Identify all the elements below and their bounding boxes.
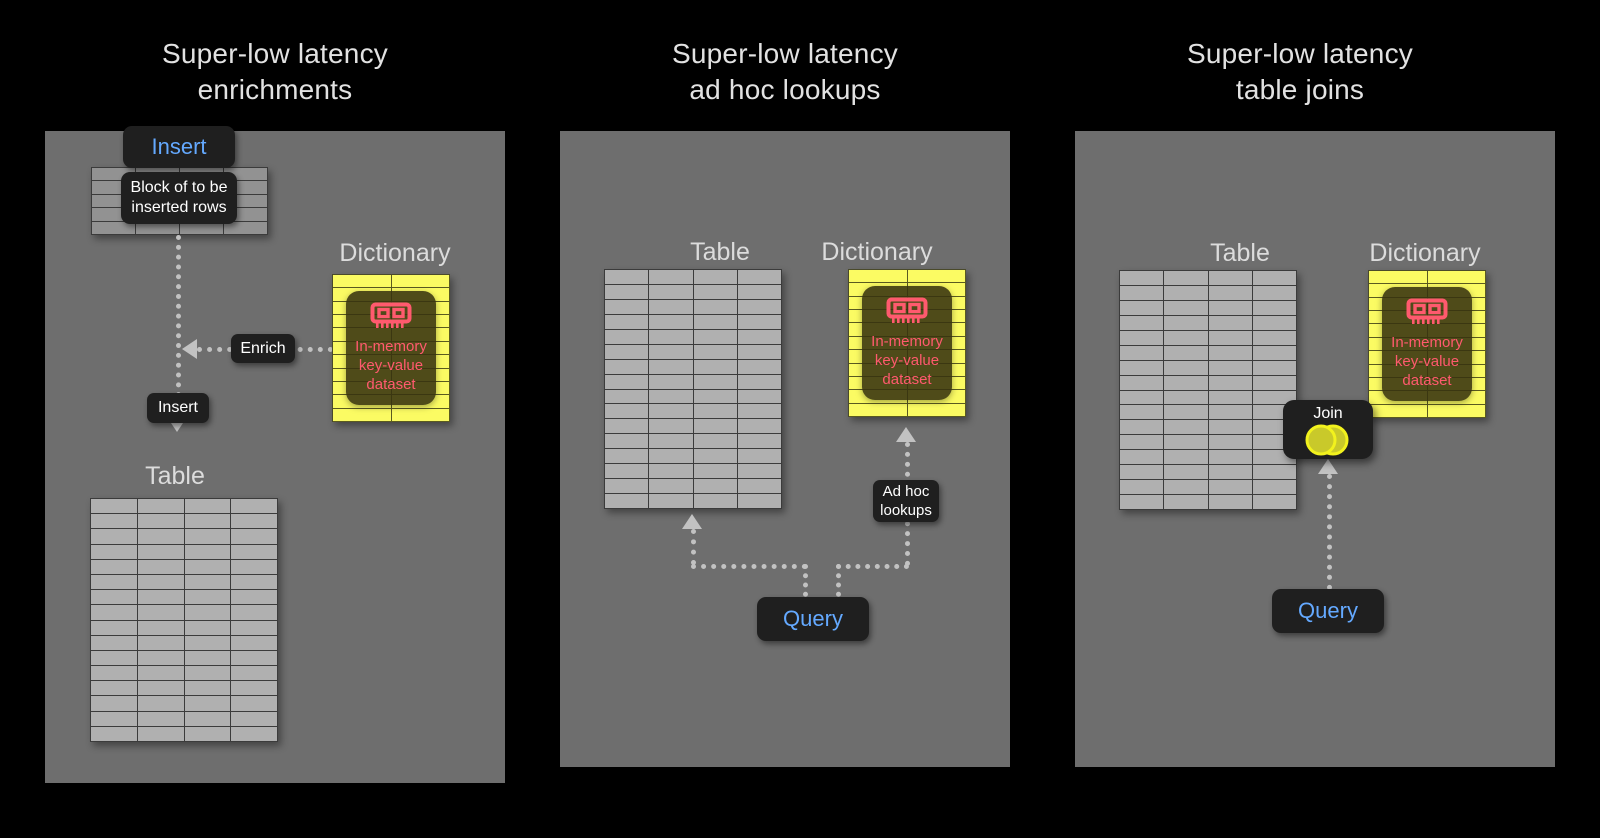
badge-block-rows-line2: inserted rows	[131, 198, 226, 218]
arrow-query-to-table	[682, 514, 702, 529]
table-cell	[138, 727, 185, 742]
table-cell	[849, 404, 908, 417]
table-cell	[738, 360, 782, 375]
label-dictionary-p2: Dictionary	[782, 237, 972, 267]
table-cell	[1120, 465, 1164, 480]
table-cell	[649, 360, 693, 375]
panel-title-line2: ad hoc lookups	[560, 72, 1010, 108]
badge-insert-top[interactable]: Insert	[123, 126, 235, 168]
table-cell	[649, 449, 693, 464]
memcard-caption-p2: In-memory key-value dataset	[871, 332, 943, 389]
table-cell	[738, 434, 782, 449]
badge-enrich[interactable]: Enrich	[231, 334, 295, 363]
table-cell	[185, 514, 232, 529]
arrow-enrich-left	[182, 339, 197, 359]
memcard-caption-p1: In-memory key-value dataset	[355, 337, 427, 394]
table-cell	[694, 464, 738, 479]
table-cell	[231, 560, 278, 575]
main-table-p3	[1119, 270, 1297, 510]
table-cell	[694, 404, 738, 419]
table-cell	[185, 560, 232, 575]
memcard-line3: dataset	[366, 376, 415, 393]
table-cell	[138, 621, 185, 636]
label-dictionary-p3-text: Dictionary	[1369, 239, 1480, 267]
table-cell	[1120, 391, 1164, 406]
label-dictionary-p1: Dictionary	[310, 238, 480, 268]
table-cell	[849, 270, 908, 283]
table-cell	[1164, 361, 1208, 376]
table-cell	[1164, 301, 1208, 316]
table-cell	[185, 651, 232, 666]
table-cell	[649, 464, 693, 479]
table-cell	[1209, 405, 1253, 420]
table-cell	[231, 651, 278, 666]
table-cell	[1120, 420, 1164, 435]
label-table-p3-text: Table	[1210, 239, 1270, 267]
table-cell	[649, 494, 693, 509]
table-cell	[333, 275, 392, 288]
table-cell	[1253, 465, 1297, 480]
table-cell	[1164, 465, 1208, 480]
table-cell	[738, 404, 782, 419]
table-cell	[231, 605, 278, 620]
table-cell	[1120, 495, 1164, 510]
table-cell	[649, 375, 693, 390]
label-dictionary-p2-text: Dictionary	[821, 238, 932, 266]
table-cell	[138, 545, 185, 560]
label-table-p3: Table	[1140, 238, 1340, 268]
table-cell	[1253, 316, 1297, 331]
table-cell	[1253, 346, 1297, 361]
ram-icon	[1406, 298, 1448, 333]
table-cell	[605, 330, 649, 345]
table-cell	[605, 464, 649, 479]
table-cell	[1120, 346, 1164, 361]
table-cell	[91, 545, 138, 560]
table-cell	[138, 696, 185, 711]
memcard-p1: In-memory key-value dataset	[346, 291, 436, 405]
badge-block-rows-line1: Block of to be	[131, 178, 228, 198]
memcard-p2: In-memory key-value dataset	[862, 286, 952, 400]
panel-title-line1: Super-low latency	[45, 36, 505, 72]
table-cell	[605, 360, 649, 375]
table-cell	[1209, 271, 1253, 286]
table-cell	[649, 270, 693, 285]
table-cell	[605, 479, 649, 494]
table-cell	[694, 494, 738, 509]
table-cell	[1164, 450, 1208, 465]
table-cell	[1253, 480, 1297, 495]
table-cell	[138, 560, 185, 575]
table-cell	[1209, 361, 1253, 376]
badge-join-label: Join	[1313, 400, 1342, 423]
table-cell	[231, 514, 278, 529]
table-cell	[138, 575, 185, 590]
table-cell	[185, 545, 232, 560]
memcard-line2: key-value	[359, 357, 423, 374]
memcard-line2: key-value	[1395, 353, 1459, 370]
table-cell	[91, 712, 138, 727]
table-cell	[1120, 301, 1164, 316]
table-cell	[649, 434, 693, 449]
table-cell	[1209, 420, 1253, 435]
table-cell	[185, 681, 232, 696]
table-cell	[649, 285, 693, 300]
panel-title-ad-hoc-lookups: Super-low latency ad hoc lookups	[560, 36, 1010, 108]
table-cell	[91, 590, 138, 605]
badge-query-p2-label: Query	[783, 606, 843, 632]
table-cell	[1209, 316, 1253, 331]
table-cell	[138, 499, 185, 514]
label-table-p1: Table	[105, 461, 245, 491]
table-cell	[605, 315, 649, 330]
memcard-caption-p3: In-memory key-value dataset	[1391, 333, 1463, 390]
table-cell	[138, 590, 185, 605]
label-dictionary-p3: Dictionary	[1330, 238, 1520, 268]
table-cell	[605, 390, 649, 405]
table-cell	[1209, 286, 1253, 301]
table-cell	[231, 545, 278, 560]
table-cell	[649, 404, 693, 419]
connector-table-horizontal	[691, 564, 807, 569]
label-table-p2-text: Table	[690, 238, 750, 266]
badge-insert-top-label: Insert	[151, 134, 206, 160]
table-cell	[738, 345, 782, 360]
table-cell	[738, 449, 782, 464]
table-cell	[649, 315, 693, 330]
table-cell	[605, 434, 649, 449]
table-cell	[231, 681, 278, 696]
panel-title-line1: Super-low latency	[1075, 36, 1525, 72]
table-cell	[1120, 435, 1164, 450]
connector-dictionary-horizontal	[836, 564, 909, 569]
table-cell	[605, 419, 649, 434]
table-cell	[738, 375, 782, 390]
table-cell	[91, 681, 138, 696]
table-cell	[231, 621, 278, 636]
table-cell	[1209, 495, 1253, 510]
table-cell	[138, 636, 185, 651]
table-cell	[1164, 346, 1208, 361]
label-table-p1-text: Table	[145, 462, 205, 490]
table-cell	[91, 560, 138, 575]
table-cell	[1253, 376, 1297, 391]
table-cell	[1209, 391, 1253, 406]
table-cell	[908, 270, 967, 283]
memcard-p3: In-memory key-value dataset	[1382, 287, 1472, 401]
panel-title-line1: Super-low latency	[560, 36, 1010, 72]
table-cell	[1120, 480, 1164, 495]
memcard-line1: In-memory	[1391, 334, 1463, 351]
table-cell	[91, 514, 138, 529]
badge-ad-hoc-line1: Ad hoc	[883, 482, 930, 501]
table-cell	[231, 666, 278, 681]
table-cell	[1120, 316, 1164, 331]
ram-icon	[370, 302, 412, 337]
table-cell	[231, 712, 278, 727]
badge-enrich-label: Enrich	[240, 340, 285, 358]
table-cell	[91, 696, 138, 711]
badge-block-rows[interactable]: Block of to be inserted rows	[121, 172, 237, 224]
badge-query-p2[interactable]: Query	[757, 597, 869, 641]
table-cell	[1209, 450, 1253, 465]
table-cell	[231, 529, 278, 544]
table-cell	[605, 494, 649, 509]
table-cell	[392, 409, 451, 422]
table-cell	[185, 636, 232, 651]
table-cell	[1209, 301, 1253, 316]
table-cell	[1209, 376, 1253, 391]
table-cell	[1164, 391, 1208, 406]
table-cell	[694, 479, 738, 494]
table-cell	[185, 621, 232, 636]
badge-insert-mid-label: Insert	[158, 399, 198, 417]
table-cell	[91, 499, 138, 514]
table-cell	[1253, 495, 1297, 510]
main-table-p1	[90, 498, 278, 742]
panel-ad-hoc-lookups: Table Dictionary In-me	[560, 131, 1010, 767]
connector-table-vertical	[691, 529, 696, 565]
table-cell	[1369, 271, 1428, 284]
table-cell	[231, 499, 278, 514]
label-dictionary-p1-text: Dictionary	[339, 239, 450, 267]
table-cell	[694, 270, 738, 285]
table-cell	[1120, 361, 1164, 376]
table-cell	[694, 315, 738, 330]
arrow-lookup-to-dictionary	[896, 427, 916, 442]
panel-title-enrichments: Super-low latency enrichments	[45, 36, 505, 108]
table-cell	[738, 390, 782, 405]
panel-title-line2: enrichments	[45, 72, 505, 108]
table-cell	[1164, 286, 1208, 301]
table-cell	[185, 499, 232, 514]
table-cell	[1164, 495, 1208, 510]
table-cell	[1120, 271, 1164, 286]
table-cell	[185, 696, 232, 711]
memcard-line3: dataset	[882, 371, 931, 388]
venn-diagram-icon	[1297, 423, 1359, 457]
table-cell	[1120, 405, 1164, 420]
table-cell	[138, 666, 185, 681]
table-cell	[908, 404, 967, 417]
table-cell	[1253, 361, 1297, 376]
memcard-line1: In-memory	[355, 338, 427, 355]
table-cell	[605, 375, 649, 390]
table-cell	[1253, 286, 1297, 301]
table-cell	[1120, 450, 1164, 465]
table-cell	[738, 315, 782, 330]
table-cell	[185, 712, 232, 727]
table-cell	[694, 360, 738, 375]
panel-enrichments: Insert Block of to be inserted rows Inse…	[45, 131, 505, 783]
table-cell	[1209, 331, 1253, 346]
table-cell	[649, 390, 693, 405]
table-cell	[1164, 435, 1208, 450]
table-cell	[138, 651, 185, 666]
table-cell	[738, 330, 782, 345]
ram-icon	[886, 297, 928, 332]
table-cell	[231, 575, 278, 590]
table-cell	[1209, 465, 1253, 480]
panel-table-joins: Table Dictionary In-me	[1075, 131, 1555, 767]
table-cell	[1120, 376, 1164, 391]
table-cell	[649, 345, 693, 360]
table-cell	[138, 514, 185, 529]
table-cell	[91, 651, 138, 666]
table-cell	[1164, 480, 1208, 495]
table-cell	[649, 330, 693, 345]
table-cell	[1428, 405, 1487, 418]
main-table-p2	[604, 269, 782, 509]
table-cell	[1253, 301, 1297, 316]
table-cell	[1369, 405, 1428, 418]
panel-title-table-joins: Super-low latency table joins	[1075, 36, 1525, 108]
table-cell	[185, 529, 232, 544]
table-cell	[1120, 286, 1164, 301]
table-cell	[694, 419, 738, 434]
arrow-query-to-join	[1318, 459, 1338, 474]
table-cell	[738, 479, 782, 494]
table-cell	[649, 479, 693, 494]
badge-query-p3-label: Query	[1298, 598, 1358, 624]
connector-join-vertical	[1327, 474, 1332, 590]
diagram-canvas: Super-low latency enrichments Insert Blo…	[0, 0, 1600, 838]
table-cell	[694, 285, 738, 300]
table-cell	[1164, 331, 1208, 346]
table-cell	[738, 494, 782, 509]
table-cell	[91, 727, 138, 742]
table-cell	[649, 419, 693, 434]
table-cell	[1164, 376, 1208, 391]
table-cell	[91, 636, 138, 651]
table-cell	[605, 345, 649, 360]
table-cell	[185, 575, 232, 590]
table-cell	[605, 300, 649, 315]
table-cell	[1209, 435, 1253, 450]
table-cell	[605, 449, 649, 464]
table-cell	[1428, 271, 1487, 284]
table-cell	[1209, 346, 1253, 361]
memcard-line1: In-memory	[871, 333, 943, 350]
memcard-line3: dataset	[1402, 372, 1451, 389]
badge-ad-hoc-lookups[interactable]: Ad hoc lookups	[873, 480, 939, 522]
table-cell	[694, 390, 738, 405]
table-cell	[91, 529, 138, 544]
table-cell	[1209, 480, 1253, 495]
table-cell	[1164, 271, 1208, 286]
table-cell	[231, 696, 278, 711]
table-cell	[1164, 405, 1208, 420]
table-cell	[605, 270, 649, 285]
table-cell	[185, 590, 232, 605]
table-cell	[605, 285, 649, 300]
table-cell	[738, 285, 782, 300]
table-cell	[1253, 331, 1297, 346]
badge-ad-hoc-line2: lookups	[880, 501, 932, 520]
table-cell	[231, 727, 278, 742]
table-cell	[185, 605, 232, 620]
badge-join[interactable]: Join	[1283, 400, 1373, 459]
badge-query-p3[interactable]: Query	[1272, 589, 1384, 633]
connector-insert-vertical	[176, 235, 181, 417]
table-cell	[738, 270, 782, 285]
table-cell	[138, 712, 185, 727]
panel-title-line2: table joins	[1075, 72, 1525, 108]
table-cell	[138, 529, 185, 544]
table-cell	[694, 345, 738, 360]
table-cell	[738, 300, 782, 315]
table-cell	[649, 300, 693, 315]
table-cell	[694, 330, 738, 345]
table-cell	[91, 621, 138, 636]
table-cell	[605, 404, 649, 419]
table-cell	[185, 666, 232, 681]
table-cell	[91, 575, 138, 590]
table-cell	[738, 419, 782, 434]
table-cell	[231, 636, 278, 651]
table-cell	[694, 449, 738, 464]
table-cell	[1164, 316, 1208, 331]
table-cell	[1253, 271, 1297, 286]
table-cell	[1120, 331, 1164, 346]
memcard-line2: key-value	[875, 352, 939, 369]
table-cell	[333, 409, 392, 422]
table-cell	[91, 605, 138, 620]
table-cell	[392, 275, 451, 288]
table-cell	[231, 590, 278, 605]
table-cell	[138, 681, 185, 696]
table-cell	[185, 727, 232, 742]
table-cell	[694, 300, 738, 315]
table-cell	[138, 605, 185, 620]
table-cell	[694, 434, 738, 449]
table-cell	[694, 375, 738, 390]
table-cell	[1164, 420, 1208, 435]
badge-insert-mid[interactable]: Insert	[147, 393, 209, 423]
table-cell	[738, 464, 782, 479]
table-cell	[91, 666, 138, 681]
